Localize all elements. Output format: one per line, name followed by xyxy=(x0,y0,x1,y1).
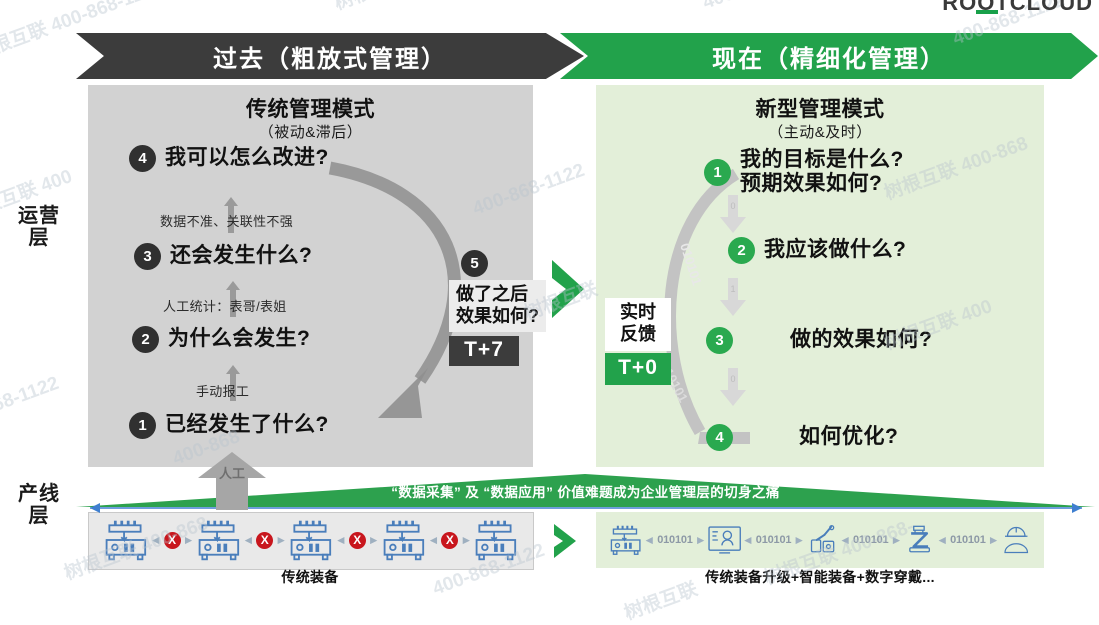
past-step-2: 2 为什么会发生? xyxy=(132,326,310,353)
link-arrow-icon: ◄ xyxy=(150,533,162,547)
link-arrow-icon: ◄ xyxy=(936,533,948,547)
now-realtime-text: 实时 反馈 xyxy=(611,302,665,346)
banner-now: 现在（精细化管理） xyxy=(560,33,1098,79)
rootcloud-logo: ROOTCLOUD xyxy=(942,0,1093,16)
watermark-text: 400-868-1122 xyxy=(700,0,818,15)
machine-link-broken: ◄ X ► xyxy=(335,532,380,549)
svg-text:0: 0 xyxy=(730,201,735,211)
watermark-text: 868-1122 xyxy=(0,373,62,421)
past-step-4-bullet: 4 xyxy=(129,145,156,172)
x-mark-icon: X xyxy=(164,532,181,549)
now-step-1-text: 我的目标是什么? 预期效果如何? xyxy=(740,148,904,197)
past-step-2-bullet: 2 xyxy=(132,326,159,353)
x-mark-icon: X xyxy=(349,532,366,549)
now-realtime-box: 实时 反馈 xyxy=(605,298,671,351)
link-arrow-icon: ► xyxy=(695,533,707,547)
machine-icon xyxy=(102,518,150,562)
worker-helmet-icon xyxy=(1000,518,1032,562)
now-step-2-text: 我应该做什么? xyxy=(764,238,906,262)
now-callout-realtime: 实时 反馈 T+0 xyxy=(605,298,671,385)
link-arrow-icon: ► xyxy=(793,533,805,547)
now-latency-tag: T+0 xyxy=(605,353,671,385)
production-caption-past: 传统装备 xyxy=(88,567,532,587)
data-link: ◄ 010101 ► xyxy=(742,533,805,547)
slide-canvas: ROOTCLOUD 运营层 产线层 过去（粗放式管理） 现在（精细化管理） 传统… xyxy=(0,0,1099,625)
link-arrow-icon: ◄ xyxy=(335,533,347,547)
link-arrow-icon: ◄ xyxy=(242,533,254,547)
now-step-1-bullet: 1 xyxy=(704,159,731,186)
data-stream-label: 010101 xyxy=(853,534,889,546)
data-link: ◄ 010101 ► xyxy=(643,533,706,547)
now-down-arrow-1: 0 xyxy=(720,195,746,233)
svg-text:1: 1 xyxy=(730,284,735,294)
past-step-4: 4 我可以怎么改进? xyxy=(129,145,329,172)
machine-icon xyxy=(380,518,428,562)
link-arrow-icon: ► xyxy=(368,533,380,547)
production-caption-now: 传统装备升级+智能装备+数字穿戴... xyxy=(596,567,1044,587)
link-arrow-icon: ◄ xyxy=(643,533,655,547)
data-stream-label: 010101 xyxy=(756,534,792,546)
production-transition-chevron-icon xyxy=(552,523,578,559)
past-step-1-text: 已经发生了什么? xyxy=(165,413,329,437)
past-step-3-bullet: 3 xyxy=(134,243,161,270)
now-step-3-text: 做的效果如何? xyxy=(790,328,932,352)
now-step-2: 2 我应该做什么? xyxy=(728,237,906,264)
past-step-1-bullet: 1 xyxy=(129,412,156,439)
svg-text:0: 0 xyxy=(730,374,735,384)
past-panel-title: 传统管理模式 xyxy=(88,93,533,123)
now-panel-subtitle: （主动&及时） xyxy=(596,121,1044,142)
past-panel-subtitle: （被动&滞后） xyxy=(88,121,533,142)
link-arrow-icon: ◄ xyxy=(427,533,439,547)
link-arrow-icon: ► xyxy=(988,533,1000,547)
past-annotation-manual-report: 手动报工 xyxy=(196,381,249,400)
robot-arm-icon xyxy=(805,518,839,562)
transition-chevron-icon xyxy=(548,258,590,320)
banner-past-label: 过去（粗放式管理） xyxy=(213,39,447,74)
past-annotation-data-quality: 数据不准、关联性不强 xyxy=(160,211,293,230)
now-step-2-bullet: 2 xyxy=(728,237,755,264)
now-step-1: 1 我的目标是什么? 预期效果如何? xyxy=(704,148,904,197)
past-step-3: 3 还会发生什么? xyxy=(134,243,312,270)
machine-icon xyxy=(287,518,335,562)
past-annotation-manual-stats: 人工统计：表哥/表姐 xyxy=(163,296,287,315)
past-step-4-text: 我可以怎么改进? xyxy=(165,146,329,170)
past-step-1: 1 已经发生了什么? xyxy=(129,412,329,439)
hmi-operator-icon xyxy=(707,518,742,562)
machine-icon xyxy=(608,519,643,561)
now-step-4-bullet: 4 xyxy=(706,424,733,451)
link-arrow-icon: ► xyxy=(460,533,472,547)
data-stream-label: 010101 xyxy=(657,534,693,546)
data-link: ◄ 010101 ► xyxy=(839,533,902,547)
agv-robot-icon xyxy=(902,518,936,562)
now-step-3: 3 做的效果如何? xyxy=(706,327,932,354)
x-mark-icon: X xyxy=(256,532,273,549)
link-arrow-icon: ► xyxy=(183,533,195,547)
x-mark-icon: X xyxy=(441,532,458,549)
machine-row-past: ◄ X ► ◄ X ► xyxy=(96,512,526,568)
machine-icon xyxy=(195,518,243,562)
link-arrow-icon: ► xyxy=(275,533,287,547)
machine-row-now: ◄ 010101 ► ◄ 010101 ► ◄ 010101 ► xyxy=(600,512,1040,568)
data-link: ◄ 010101 ► xyxy=(936,533,999,547)
machine-icon xyxy=(472,518,520,562)
past-callout-step-5: 5 做了之后 效果如何? T+7 xyxy=(449,250,546,366)
link-arrow-icon: ◄ xyxy=(742,533,754,547)
machine-link-broken: ◄ X ► xyxy=(150,532,195,549)
logo-text: ROOTCLOUD xyxy=(942,0,1093,15)
link-arrow-icon: ► xyxy=(890,533,902,547)
now-down-arrow-2: 1 xyxy=(720,278,746,316)
banner-past: 过去（粗放式管理） xyxy=(76,33,584,79)
now-down-arrow-3: 0 xyxy=(720,368,746,406)
logo-accent-bar xyxy=(976,10,998,14)
now-step-3-bullet: 3 xyxy=(706,327,733,354)
past-step-3-text: 还会发生什么? xyxy=(170,244,312,268)
data-stream-label: 010101 xyxy=(950,534,986,546)
link-arrow-icon: ◄ xyxy=(839,533,851,547)
past-step-5-box: 做了之后 效果如何? xyxy=(449,280,546,332)
now-step-4-text: 如何优化? xyxy=(799,425,898,449)
past-step-2-text: 为什么会发生? xyxy=(168,327,310,351)
now-panel-title: 新型管理模式 xyxy=(596,93,1044,123)
past-step-5-bullet: 5 xyxy=(461,250,488,277)
machine-link-broken: ◄ X ► xyxy=(427,532,472,549)
banner-now-label: 现在（精细化管理） xyxy=(712,39,946,74)
past-step-5-text: 做了之后 效果如何? xyxy=(456,284,539,327)
side-label-operations: 运营层 xyxy=(16,205,62,250)
watermark-text: 树根互联 400-868-1122 xyxy=(330,0,526,15)
manual-input-label: 人工 xyxy=(196,463,268,482)
machine-link-broken: ◄ X ► xyxy=(242,532,287,549)
now-step-4: 4 如何优化? xyxy=(706,424,898,451)
past-latency-tag: T+7 xyxy=(449,336,519,366)
side-label-production-line: 产线层 xyxy=(16,483,62,528)
